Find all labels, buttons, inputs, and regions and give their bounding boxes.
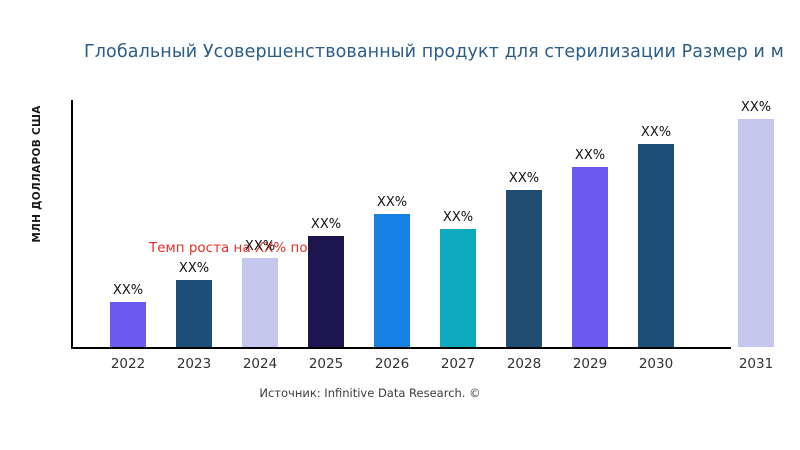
x-tick-2024: 2024 xyxy=(242,356,278,372)
bar-rect xyxy=(572,167,608,347)
x-tick-2031: 2031 xyxy=(738,356,774,372)
x-tick-2027: 2027 xyxy=(440,356,476,372)
bar-value-label: XX% xyxy=(641,125,671,140)
x-tick-2022: 2022 xyxy=(110,356,146,372)
bar-value-label: XX% xyxy=(113,283,143,298)
bar-2027[interactable]: XX% xyxy=(440,229,476,347)
y-axis-line xyxy=(71,100,73,349)
bar-rect xyxy=(176,280,212,347)
bar-2022[interactable]: XX% xyxy=(110,302,146,347)
bar-2026[interactable]: XX% xyxy=(374,214,410,347)
bar-rect xyxy=(506,190,542,347)
bar-value-label: XX% xyxy=(741,100,771,115)
plot-area: Темп роста на XX% по РДЭ XX%XX%XX%XX%XX%… xyxy=(71,100,731,349)
bar-rect xyxy=(374,214,410,347)
bar-value-label: XX% xyxy=(377,195,407,210)
bar-value-label: XX% xyxy=(575,148,605,163)
x-tick-2028: 2028 xyxy=(506,356,542,372)
x-tick-2030: 2030 xyxy=(638,356,674,372)
bar-2028[interactable]: XX% xyxy=(506,190,542,347)
source-note: Источник: Infinitive Data Research. © xyxy=(0,386,740,400)
bar-2023[interactable]: XX% xyxy=(176,280,212,347)
bar-value-label: XX% xyxy=(443,210,473,225)
bar-value-label: XX% xyxy=(245,239,275,254)
chart-title: Глобальный Усовершенствованный продукт д… xyxy=(84,40,800,64)
bar-value-label: XX% xyxy=(311,217,341,232)
bar-value-label: XX% xyxy=(179,261,209,276)
bar-rect xyxy=(242,258,278,347)
bar-rect xyxy=(638,144,674,347)
bar-value-label: XX% xyxy=(509,171,539,186)
x-tick-2026: 2026 xyxy=(374,356,410,372)
x-tick-2025: 2025 xyxy=(308,356,344,372)
bar-2024[interactable]: XX% xyxy=(242,258,278,347)
bar-rect xyxy=(308,236,344,347)
bar-2031[interactable]: XX% xyxy=(738,119,774,347)
bar-rect xyxy=(738,119,774,347)
x-axis-line xyxy=(71,347,731,349)
bar-chart: Глобальный Усовершенствованный продукт д… xyxy=(0,0,800,450)
bar-2030[interactable]: XX% xyxy=(638,144,674,347)
bar-rect xyxy=(110,302,146,347)
bar-2025[interactable]: XX% xyxy=(308,236,344,347)
bar-2029[interactable]: XX% xyxy=(572,167,608,347)
x-tick-2023: 2023 xyxy=(176,356,212,372)
x-tick-2029: 2029 xyxy=(572,356,608,372)
y-axis-title: МЛН ДОЛЛАРОВ США xyxy=(31,74,43,274)
bar-rect xyxy=(440,229,476,347)
